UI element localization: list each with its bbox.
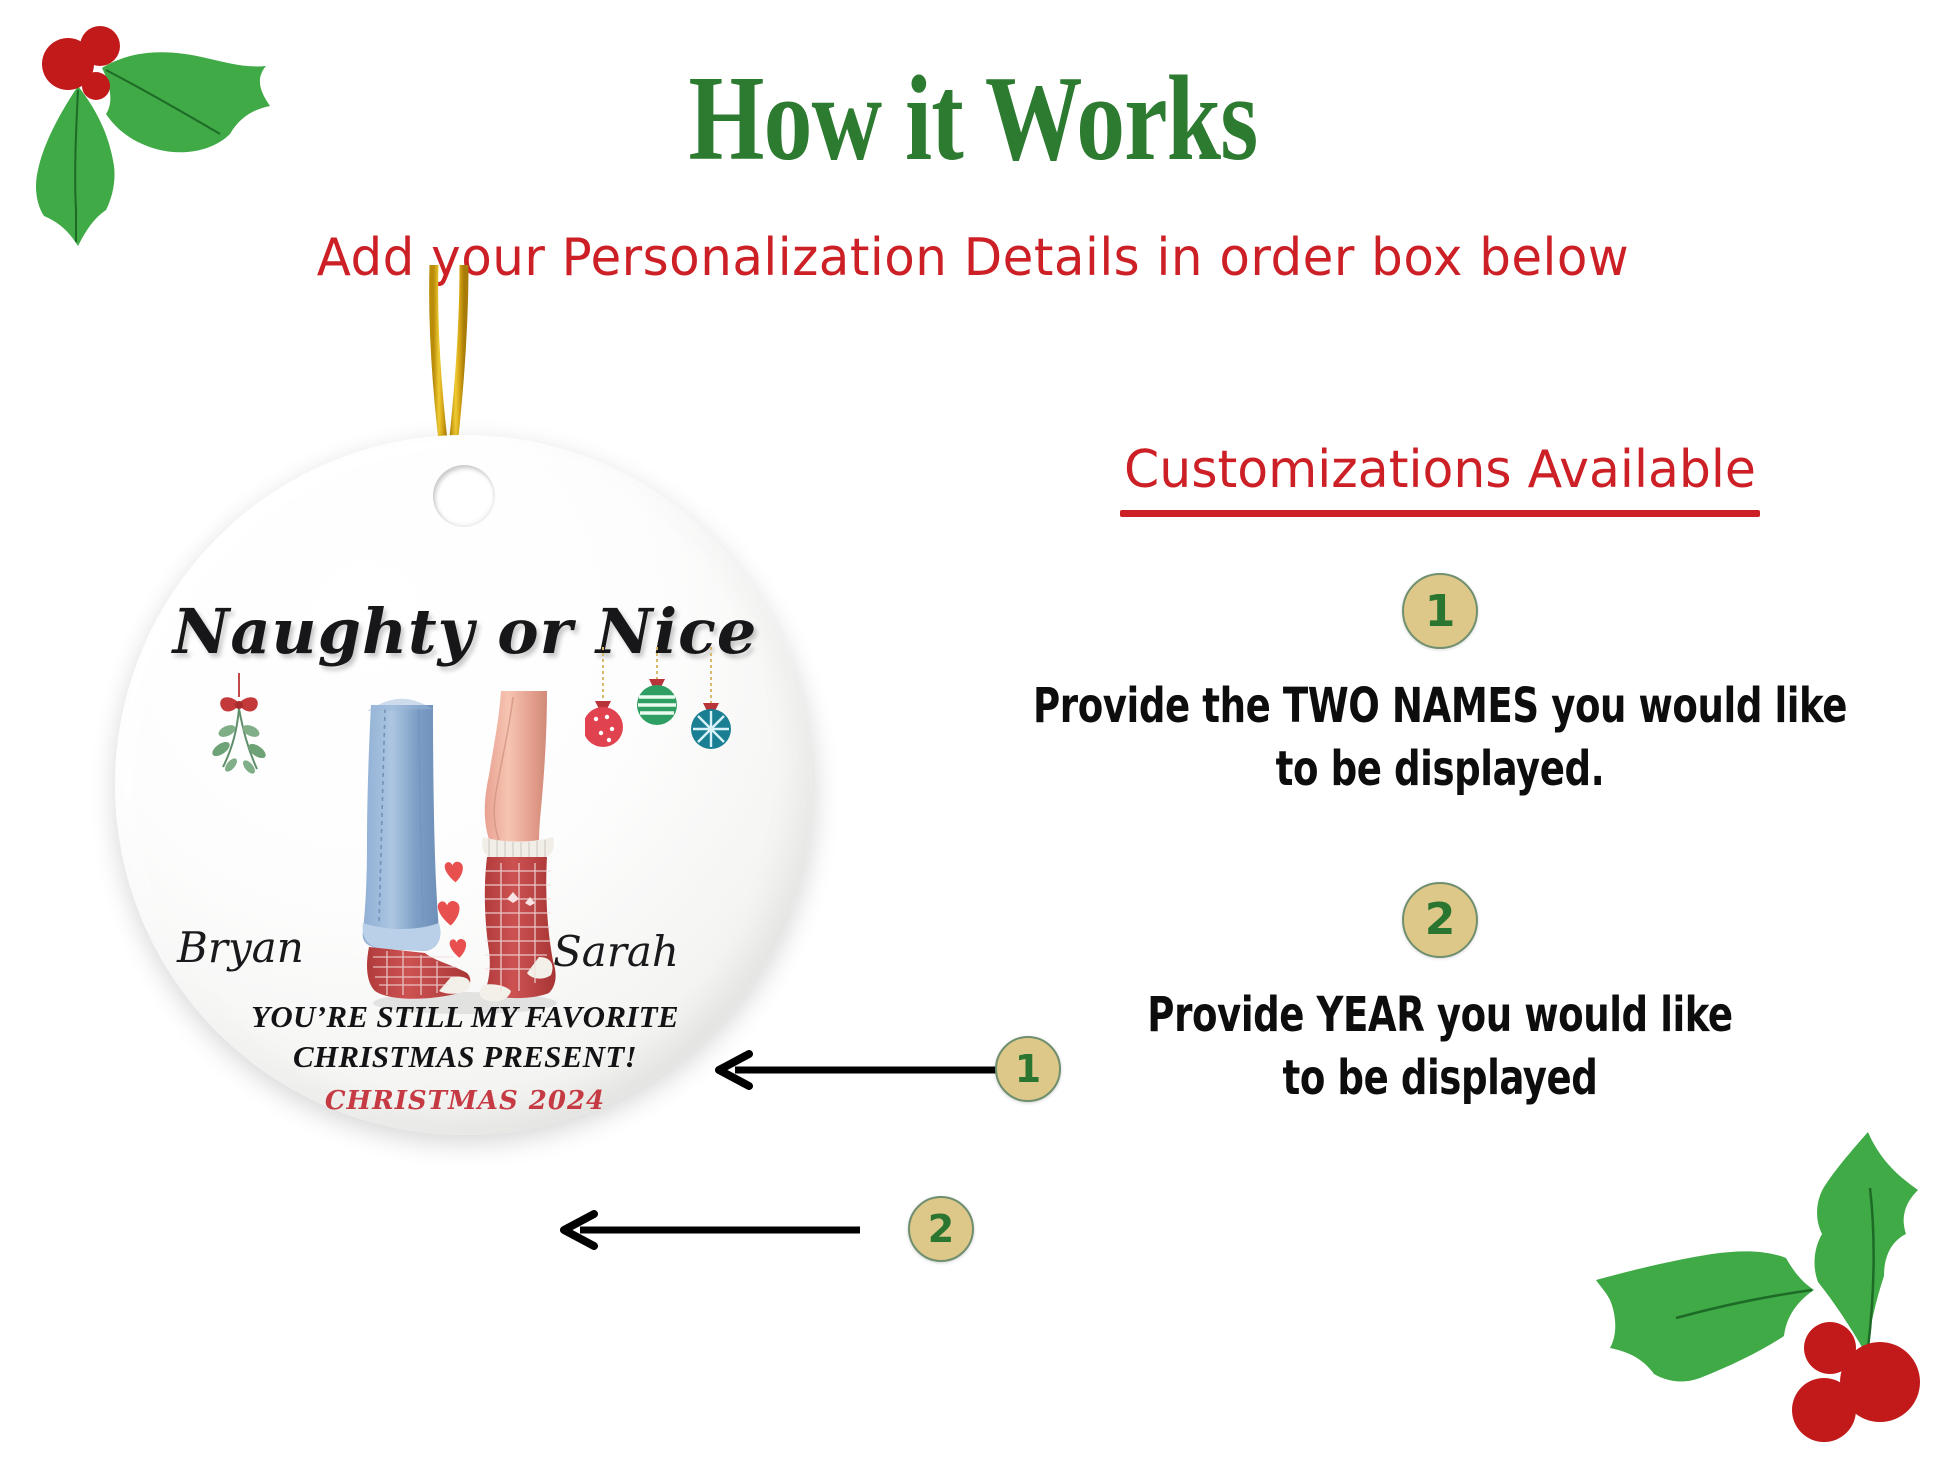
how-it-works-infographic: How it Works Add your Personalization De… [0, 0, 1946, 1459]
ornament-hole [433, 465, 495, 527]
hearts-icon [431, 855, 479, 965]
step-badge-1: 1 [1402, 573, 1478, 649]
step-2-line2: to be displayed [1027, 1047, 1853, 1110]
holly-berry-icon [82, 72, 110, 100]
ornament-tagline-line2: CHRISTMAS PRESENT! [115, 1037, 815, 1077]
step-2-text: Provide YEAR you would like to be displa… [1027, 984, 1853, 1111]
step-badge-2: 2 [1402, 882, 1478, 958]
ornament-year: CHRISTMAS 2024 [115, 1086, 815, 1116]
instruction-step-1: 1 Provide the TWO NAMES you would like t… [960, 573, 1920, 802]
step-2-badge-row: 2 [960, 882, 1920, 958]
step-2-line1: Provide YEAR you would like [1027, 984, 1853, 1047]
holly-berry-icon [1792, 1378, 1856, 1442]
ornament-name-right: Sarah [553, 927, 679, 976]
step-1-text: Provide the TWO NAMES you would like to … [1027, 675, 1853, 802]
pointer-badge-2: 2 [908, 1196, 974, 1262]
step-1-line2: to be displayed. [1027, 738, 1853, 801]
ornament-name-left: Bryan [177, 923, 304, 972]
holly-icon [14, 10, 274, 260]
instructions-panel: Customizations Available 1 Provide the T… [960, 440, 1920, 1110]
ornament-tagline-line1: YOU’RE STILL MY FAVORITE [115, 997, 815, 1037]
ceramic-ornament-disc: Naughty or Nice [115, 435, 815, 1135]
customizations-heading: Customizations Available [974, 440, 1905, 504]
ornament-preview: Naughty or Nice [60, 265, 900, 1315]
holly-icon [1588, 1130, 1940, 1452]
customizations-heading-group: Customizations Available [960, 440, 1920, 517]
heading-underline [1120, 510, 1760, 517]
instruction-step-2: 2 Provide YEAR you would like to be disp… [960, 882, 1920, 1111]
holly-berry-icon [80, 26, 120, 66]
left-arrow-icon [560, 1200, 860, 1260]
step-1-line1: Provide the TWO NAMES you would like [1027, 675, 1853, 738]
holly-berry-icon [1804, 1322, 1856, 1374]
christmas-baubles-icon [585, 647, 735, 787]
step-1-badge-row: 1 [960, 573, 1920, 649]
mistletoe-icon [193, 673, 285, 783]
page-title: How it Works [195, 58, 1752, 180]
ornament-tagline: YOU’RE STILL MY FAVORITE CHRISTMAS PRESE… [115, 997, 815, 1076]
